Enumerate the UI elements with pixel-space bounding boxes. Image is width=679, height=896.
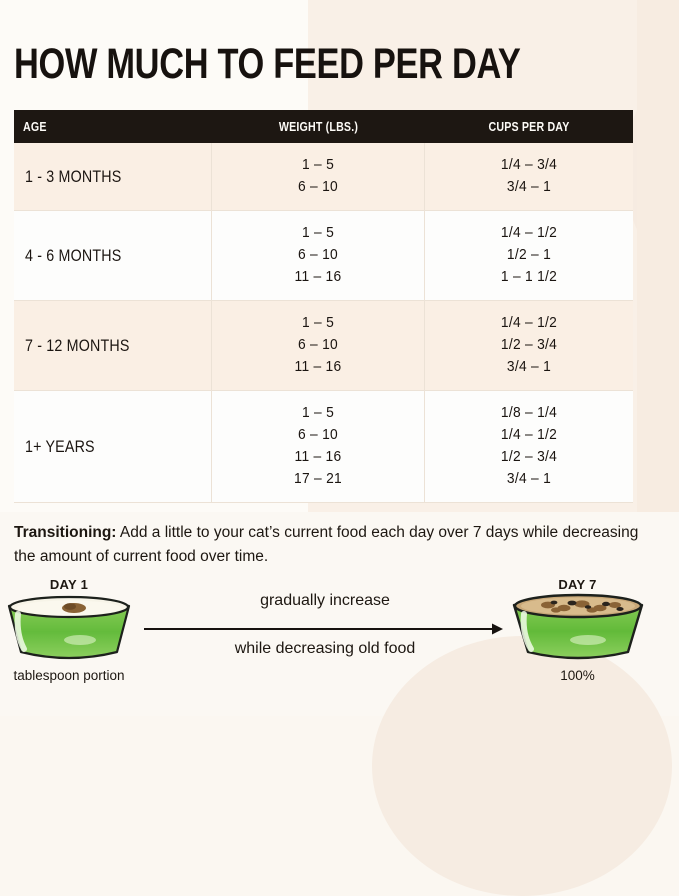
food-bowl-day7-icon <box>508 588 648 664</box>
day1-caption: tablespoon portion <box>4 668 134 683</box>
cell-weight: 1 – 5 6 – 10 <box>212 143 425 210</box>
cups-value: 1/2 – 1 <box>433 244 624 266</box>
cell-age: 7 - 12 MONTHS <box>14 301 212 390</box>
age-label: 1 - 3 MONTHS <box>25 167 121 187</box>
weight-value: 1 – 5 <box>220 402 415 424</box>
cell-cups: 1/4 – 1/2 1/2 – 1 1 – 1 1/2 <box>425 211 633 300</box>
arrow-right-icon <box>144 622 506 636</box>
cell-weight: 1 – 5 6 – 10 11 – 16 <box>212 211 425 300</box>
transition-arrow-group: gradually increase while decreasing old … <box>140 592 510 664</box>
feeding-table: AGE WEIGHT (LBS.) CUPS PER DAY 1 - 3 MON… <box>14 110 633 503</box>
cups-values: 1/4 – 3/4 3/4 – 1 <box>425 143 633 210</box>
weight-value: 17 – 21 <box>220 468 415 490</box>
day1-label: DAY 1 <box>8 577 130 592</box>
cups-value: 1 – 1 1/2 <box>433 266 624 288</box>
page-title: HOW MUCH TO FEED PER DAY <box>14 41 520 87</box>
weight-value: 6 – 10 <box>220 424 415 446</box>
cups-value: 1/2 – 3/4 <box>433 334 624 356</box>
cups-value: 1/4 – 1/2 <box>433 312 624 334</box>
cups-value: 3/4 – 1 <box>433 176 624 198</box>
weight-value: 1 – 5 <box>220 312 415 334</box>
weight-value: 6 – 10 <box>220 334 415 356</box>
age-label: 7 - 12 MONTHS <box>25 336 130 356</box>
cell-cups: 1/8 – 1/4 1/4 – 1/2 1/2 – 3/4 3/4 – 1 <box>425 391 633 502</box>
cups-value: 1/4 – 3/4 <box>433 154 624 176</box>
weight-value: 11 – 16 <box>220 266 415 288</box>
weight-values: 1 – 5 6 – 10 11 – 16 <box>212 301 424 390</box>
cell-age: 4 - 6 MONTHS <box>14 211 212 300</box>
cell-cups: 1/4 – 1/2 1/2 – 3/4 3/4 – 1 <box>425 301 633 390</box>
cell-weight: 1 – 5 6 – 10 11 – 16 <box>212 301 425 390</box>
transitioning-note: Transitioning: Add a little to your cat’… <box>14 521 644 569</box>
cups-value: 3/4 – 1 <box>433 468 624 490</box>
weight-value: 1 – 5 <box>220 222 415 244</box>
weight-value: 1 – 5 <box>220 154 415 176</box>
column-header-cups: CUPS PER DAY <box>444 119 615 134</box>
cups-values: 1/4 – 1/2 1/2 – 3/4 3/4 – 1 <box>425 301 633 390</box>
cups-value: 1/8 – 1/4 <box>433 402 624 424</box>
weight-value: 6 – 10 <box>220 176 415 198</box>
day7-caption: 100% <box>515 668 640 683</box>
weight-values: 1 – 5 6 – 10 <box>212 143 424 210</box>
table-header-row: AGE WEIGHT (LBS.) CUPS PER DAY <box>14 110 633 143</box>
age-label: 4 - 6 MONTHS <box>25 246 121 266</box>
table-row: 4 - 6 MONTHS 1 – 5 6 – 10 11 – 16 1/4 – … <box>14 211 633 301</box>
cups-values: 1/4 – 1/2 1/2 – 1 1 – 1 1/2 <box>425 211 633 300</box>
cups-value: 1/4 – 1/2 <box>433 424 624 446</box>
weight-value: 11 – 16 <box>220 446 415 468</box>
weight-value: 11 – 16 <box>220 356 415 378</box>
weight-value: 6 – 10 <box>220 244 415 266</box>
table-row: 1 - 3 MONTHS 1 – 5 6 – 10 1/4 – 3/4 3/4 … <box>14 143 633 211</box>
cell-age: 1 - 3 MONTHS <box>14 143 212 210</box>
transitioning-label: Transitioning: <box>14 524 116 541</box>
arrow-top-label: gradually increase <box>140 592 510 610</box>
food-bowl-day1-icon <box>4 592 134 664</box>
weight-values: 1 – 5 6 – 10 11 – 16 17 – 21 <box>212 391 424 502</box>
column-header-weight: WEIGHT (LBS.) <box>231 119 406 134</box>
cups-value: 1/4 – 1/2 <box>433 222 624 244</box>
arrow-bottom-label: while decreasing old food <box>140 640 510 658</box>
weight-values: 1 – 5 6 – 10 11 – 16 <box>212 211 424 300</box>
cell-cups: 1/4 – 3/4 3/4 – 1 <box>425 143 633 210</box>
cups-value: 1/2 – 3/4 <box>433 446 624 468</box>
cups-values: 1/8 – 1/4 1/4 – 1/2 1/2 – 3/4 3/4 – 1 <box>425 391 633 502</box>
age-label: 1+ YEARS <box>25 437 95 457</box>
column-header-age: AGE <box>14 119 176 134</box>
table-row: 7 - 12 MONTHS 1 – 5 6 – 10 11 – 16 1/4 –… <box>14 301 633 391</box>
cell-weight: 1 – 5 6 – 10 11 – 16 17 – 21 <box>212 391 425 502</box>
table-row: 1+ YEARS 1 – 5 6 – 10 11 – 16 17 – 21 1/… <box>14 391 633 503</box>
cell-age: 1+ YEARS <box>14 391 212 502</box>
cups-value: 3/4 – 1 <box>433 356 624 378</box>
